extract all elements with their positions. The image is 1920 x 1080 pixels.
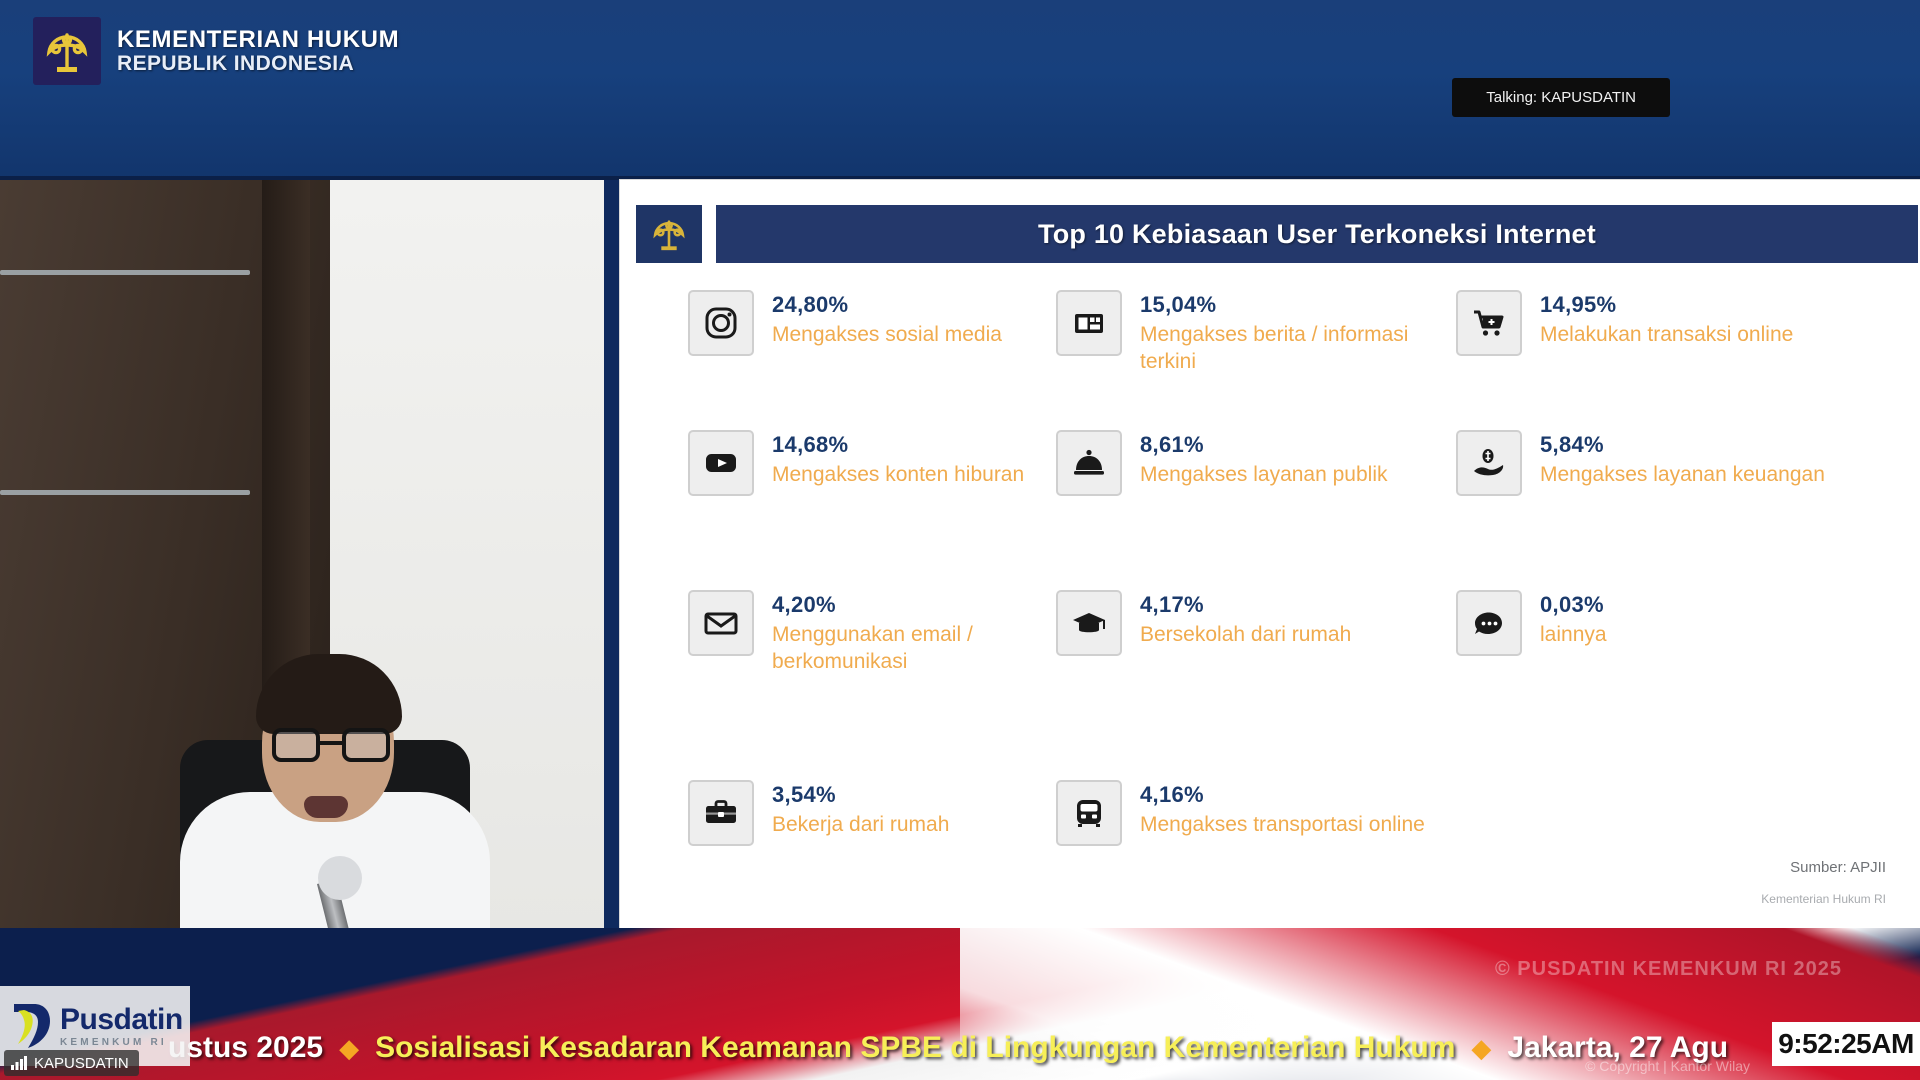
participant-name: KAPUSDATIN (34, 1055, 129, 1072)
habit-label: Mengakses berita / informasi terkini (1140, 321, 1456, 376)
habit-item[interactable]: 0,03% lainnya (1456, 590, 1856, 780)
service-bell-icon (1056, 430, 1122, 496)
chat-bubble-icon (1456, 590, 1522, 656)
ticker-separator-icon: ◆ (339, 1033, 359, 1064)
habit-label: lainnya (1540, 621, 1607, 649)
habits-row: 14,68% Mengakses konten hiburan 8,61% Me… (688, 430, 1920, 590)
habit-item[interactable]: 15,04% Mengakses berita / informasi terk… (1056, 290, 1456, 430)
habit-item[interactable]: 4,17% Bersekolah dari rumah (1056, 590, 1456, 780)
habits-row: 4,20% Menggunakan email / berkomunikasi … (688, 590, 1920, 780)
ministry-emblem-icon (33, 17, 101, 85)
habit-percent: 4,16% (1140, 781, 1425, 809)
instagram-icon (688, 290, 754, 356)
newspaper-icon (1056, 290, 1122, 356)
glasses-lens-left (272, 728, 320, 762)
microphone-head (318, 856, 362, 900)
presenter-glasses (272, 728, 390, 762)
habit-percent: 0,03% (1540, 591, 1607, 619)
wall-trim-line (0, 490, 250, 495)
wall-trim-line (0, 270, 250, 275)
pusdatin-logo-icon (8, 1000, 54, 1052)
copyright-text: © Copyright | Kantor Wilay (1585, 1058, 1750, 1074)
graduation-cap-icon (1056, 590, 1122, 656)
slide-title-bar: Top 10 Kebiasaan User Terkoneksi Interne… (714, 203, 1920, 265)
watermark-text: © PUSDATIN KEMENKUM RI 2025 (1495, 958, 1842, 981)
slide-source: Sumber: APJII (1790, 859, 1886, 876)
clock-display: 9:52:25AM (1772, 1022, 1920, 1066)
glasses-bridge (320, 741, 342, 745)
habit-label: Mengakses konten hiburan (772, 461, 1024, 489)
participant-video-tile[interactable] (0, 180, 604, 932)
ticker-headline: Sosialisasi Kesadaran Keamanan SPBE di L… (375, 1031, 1455, 1065)
participant-name-badge: KAPUSDATIN (4, 1050, 139, 1076)
money-hand-icon (1456, 430, 1522, 496)
habits-grid: 24,80% Mengakses sosial media 15,04% (688, 290, 1920, 900)
ticker-date: ustus 2025 (168, 1031, 323, 1065)
habit-label: Menggunakan email / berkomunikasi (772, 621, 1056, 676)
top-banner: KEMENTERIAN HUKUM REPUBLIK INDONESIA Tal… (0, 0, 1920, 180)
ministry-name-line1: KEMENTERIAN HUKUM (117, 27, 399, 53)
habit-percent: 8,61% (1140, 431, 1388, 459)
slide-header: Top 10 Kebiasaan User Terkoneksi Interne… (634, 203, 1920, 265)
pusdatin-name: Pusdatin (60, 1005, 183, 1035)
habit-percent: 15,04% (1140, 291, 1456, 319)
habit-label: Mengakses layanan publik (1140, 461, 1388, 489)
habits-row: 24,80% Mengakses sosial media 15,04% (688, 290, 1920, 430)
habit-percent: 4,20% (772, 591, 1056, 619)
pusdatin-sub: KEMENKUM RI (60, 1038, 183, 1048)
habit-item[interactable]: 14,95% Melakukan transaksi online (1456, 290, 1856, 430)
habit-label: Bersekolah dari rumah (1140, 621, 1351, 649)
habit-label: Mengakses transportasi online (1140, 811, 1425, 839)
habit-percent: 14,95% (1540, 291, 1793, 319)
bus-icon (1056, 780, 1122, 846)
habits-row: 3,54% Bekerja dari rumah 4,16% (688, 780, 1920, 900)
presentation-slide[interactable]: Top 10 Kebiasaan User Terkoneksi Interne… (620, 180, 1920, 928)
habit-label: Mengakses layanan keuangan (1540, 461, 1825, 489)
habit-label: Melakukan transaksi online (1540, 321, 1793, 349)
slide-title: Top 10 Kebiasaan User Terkoneksi Interne… (1038, 219, 1596, 250)
presenter-mouth (304, 796, 348, 818)
habit-item-empty (1456, 780, 1856, 900)
habit-label: Mengakses sosial media (772, 321, 1002, 349)
habit-percent: 5,84% (1540, 431, 1825, 459)
shopping-cart-icon (1456, 290, 1522, 356)
habit-item[interactable]: 3,54% Bekerja dari rumah (688, 780, 1056, 900)
habit-item[interactable]: 24,80% Mengakses sosial media (688, 290, 1056, 430)
habit-item[interactable]: 5,84% Mengakses layanan keuangan (1456, 430, 1856, 590)
glasses-lens-right (342, 728, 390, 762)
ministry-name-line2: REPUBLIK INDONESIA (117, 53, 399, 76)
habit-item[interactable]: 4,20% Menggunakan email / berkomunikasi (688, 590, 1056, 780)
habit-percent: 24,80% (772, 291, 1002, 319)
envelope-icon (688, 590, 754, 656)
signal-bars-icon (11, 1056, 27, 1070)
habit-item[interactable]: 14,68% Mengakses konten hiburan (688, 430, 1056, 590)
briefcase-icon (688, 780, 754, 846)
ministry-brand: KEMENTERIAN HUKUM REPUBLIK INDONESIA (33, 17, 399, 85)
youtube-icon (688, 430, 754, 496)
habit-item[interactable]: 8,61% Mengakses layanan publik (1056, 430, 1456, 590)
habit-percent: 3,54% (772, 781, 949, 809)
ticker-separator-icon: ◆ (1471, 1033, 1491, 1064)
habit-label: Bekerja dari rumah (772, 811, 949, 839)
ministry-emblem-icon (634, 203, 704, 265)
habit-item[interactable]: 4,16% Mengakses transportasi online (1056, 780, 1456, 900)
habit-percent: 14,68% (772, 431, 1024, 459)
talking-indicator: Talking: KAPUSDATIN (1452, 78, 1670, 117)
habit-percent: 4,17% (1140, 591, 1351, 619)
slide-footer-note: Kementerian Hukum RI (1761, 892, 1886, 906)
